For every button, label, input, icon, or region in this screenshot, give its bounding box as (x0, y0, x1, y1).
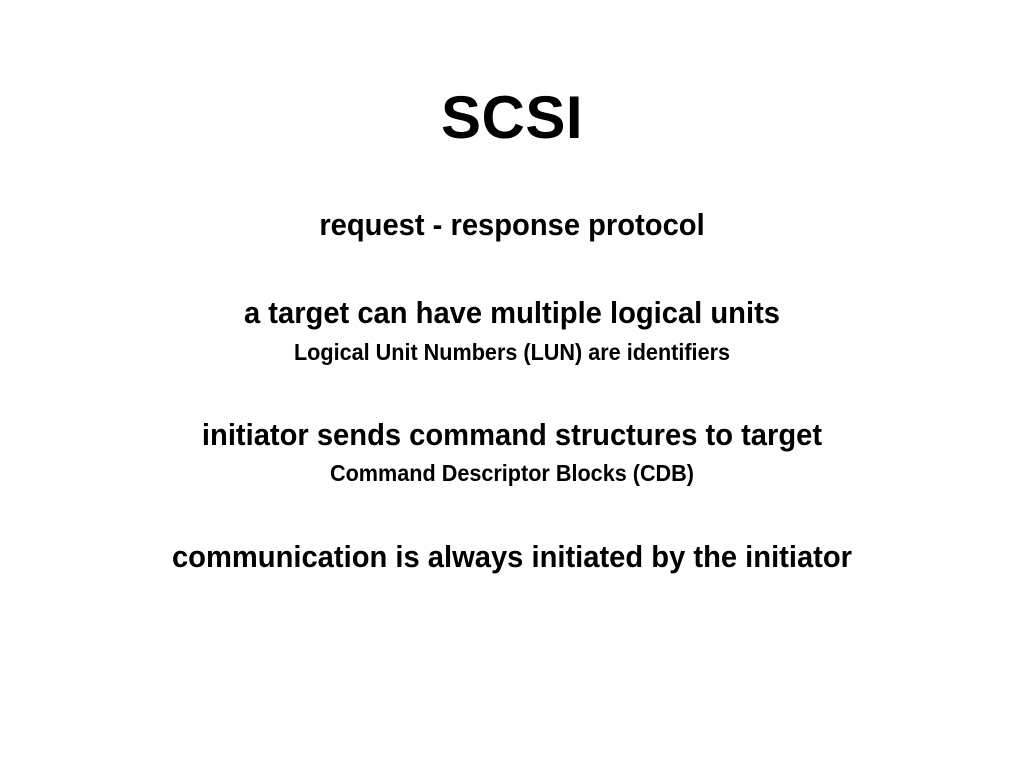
content-line-main: request - response protocol (31, 205, 994, 245)
content-group: a target can have multiple logical units… (0, 293, 1024, 367)
content-group: initiator sends command structures to ta… (0, 415, 1024, 489)
content-line-main: communication is always initiated by the… (31, 537, 994, 577)
content-line-sub: Command Descriptor Blocks (CDB) (31, 458, 994, 488)
content-line-sub: Logical Unit Numbers (LUN) are identifie… (31, 337, 994, 367)
content-group: communication is always initiated by the… (0, 537, 1024, 577)
content-group: request - response protocol (0, 205, 1024, 245)
slide-canvas: SCSI request - response protocol a targe… (0, 0, 1024, 768)
content-line-main: initiator sends command structures to ta… (31, 415, 994, 455)
page-title: SCSI (0, 88, 1024, 148)
content-line-main: a target can have multiple logical units (31, 293, 994, 333)
slide-body: request - response protocol a target can… (0, 205, 1024, 577)
